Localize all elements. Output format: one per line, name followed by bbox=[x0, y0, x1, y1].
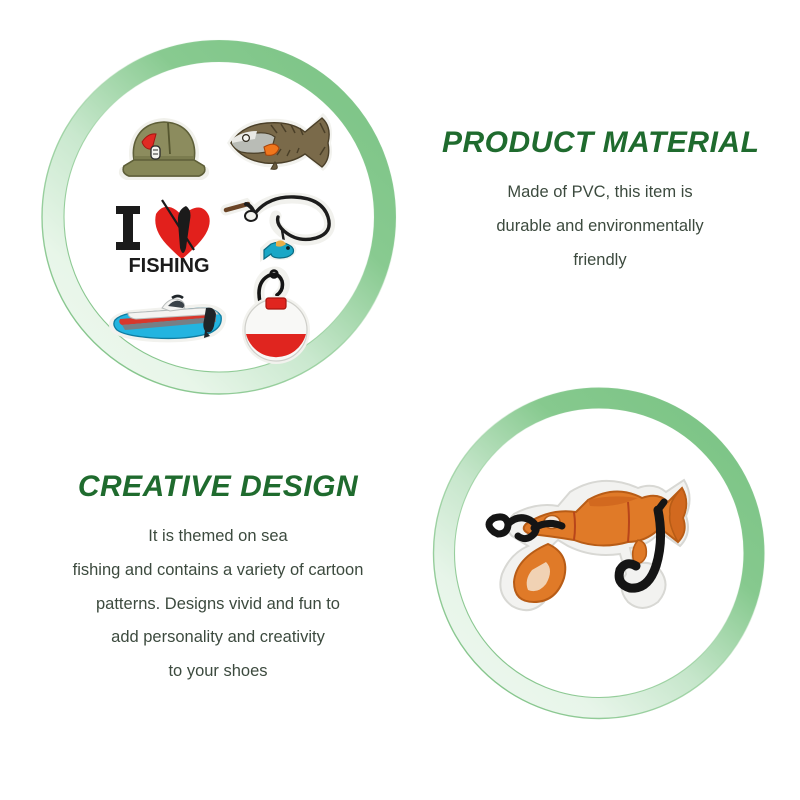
svg-text:FISHING: FISHING bbox=[128, 255, 209, 277]
boat-rail bbox=[172, 296, 183, 298]
bass-eye bbox=[243, 135, 250, 142]
i-love-fishing-charm: FISHING bbox=[110, 188, 228, 278]
creative-design-heading: CREATIVE DESIGN bbox=[38, 470, 398, 504]
orange-tab bbox=[633, 540, 647, 563]
body-line: patterns. Designs vivid and fun to bbox=[38, 588, 398, 622]
bass-boat-charm bbox=[106, 286, 230, 352]
body-line: durable and environmentally bbox=[430, 210, 770, 244]
hat-lure bbox=[151, 146, 160, 159]
body-line: to your shoes bbox=[38, 655, 398, 689]
body-line: friendly bbox=[430, 244, 770, 278]
hat-brim bbox=[123, 160, 205, 176]
product-material-body: Made of PVC, this item is durable and en… bbox=[430, 176, 770, 277]
body-line: fishing and contains a variety of cartoo… bbox=[38, 554, 398, 588]
bass-fish-charm bbox=[219, 105, 341, 181]
product-material-heading: PRODUCT MATERIAL bbox=[430, 126, 770, 160]
bobber-cap bbox=[266, 298, 286, 309]
letter-i bbox=[116, 206, 140, 250]
body-line: It is themed on sea bbox=[38, 520, 398, 554]
fishing-bobber-charm bbox=[230, 256, 322, 368]
body-line: Made of PVC, this item is bbox=[430, 176, 770, 210]
creative-design-body: It is themed on sea fishing and contains… bbox=[38, 520, 398, 689]
bucket-hat-charm bbox=[112, 104, 216, 188]
infographic-canvas: FISHING bbox=[0, 0, 800, 800]
creative-design-section: CREATIVE DESIGN It is themed on sea fish… bbox=[38, 470, 398, 689]
fishing-word: FISHING bbox=[128, 255, 209, 277]
body-line: add personality and creativity bbox=[38, 621, 398, 655]
orange-fish-hook-charm bbox=[452, 462, 696, 620]
product-material-section: PRODUCT MATERIAL Made of PVC, this item … bbox=[430, 126, 770, 277]
fish-body-line bbox=[628, 502, 629, 542]
fish-gill-line bbox=[574, 512, 575, 540]
